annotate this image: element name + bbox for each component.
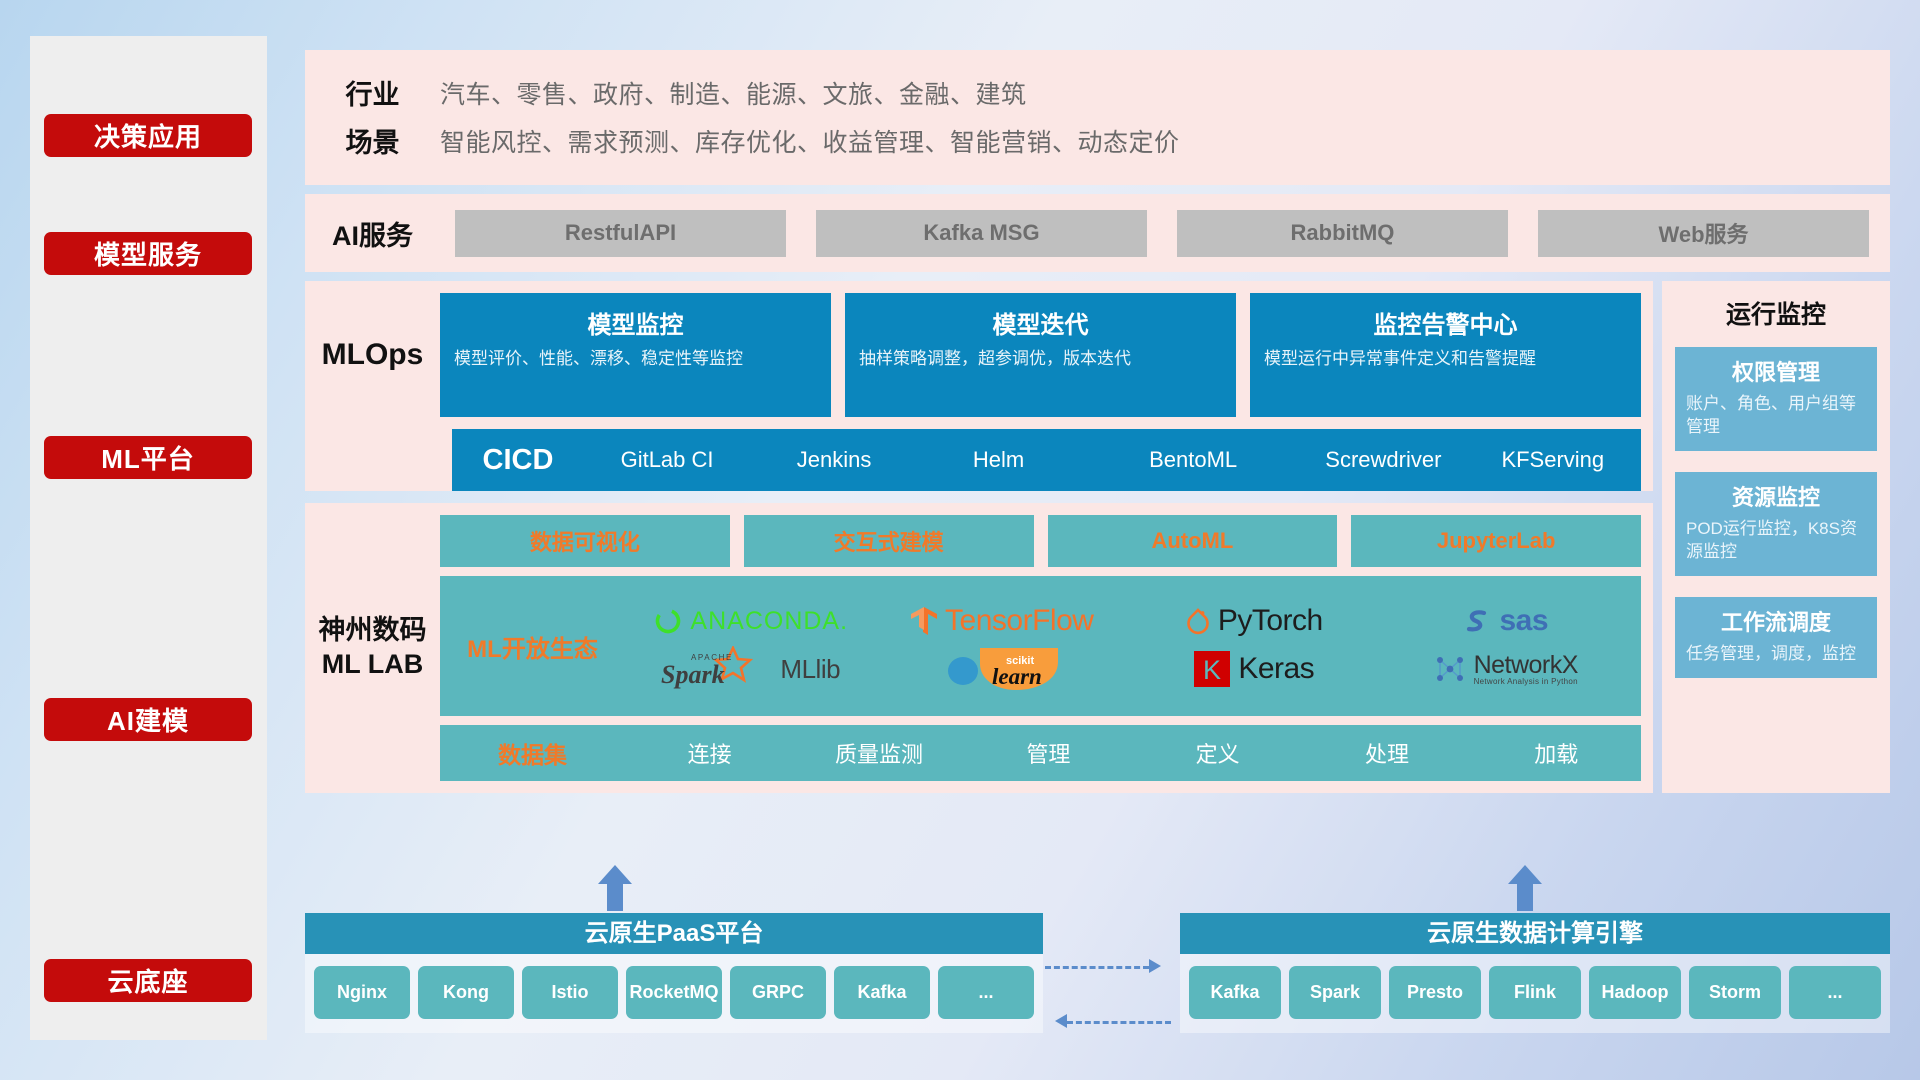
chip-label: GRPC bbox=[752, 982, 804, 1002]
spark-mllib-logo: APACHE Spark MLlib bbox=[661, 646, 840, 692]
mlops-card-alert-center[interactable]: 监控告警中心 模型运行中异常事件定义和告警提醒 bbox=[1250, 293, 1641, 417]
keras-wordmark: Keras bbox=[1238, 652, 1314, 686]
card-desc: 模型运行中异常事件定义和告警提醒 bbox=[1264, 348, 1627, 371]
mlops-label: MLOps bbox=[305, 338, 440, 372]
card-title: 资源监控 bbox=[1686, 480, 1866, 512]
chip-label: ... bbox=[1827, 982, 1842, 1002]
architecture-stack: 行业 汽车、零售、政府、制造、能源、文旅、金融、建筑 场景 智能风控、需求预测、… bbox=[305, 50, 1890, 793]
dataset-item-label: 加载 bbox=[1534, 742, 1578, 767]
networkx-logo: NetworkX Network Analysis in Python bbox=[1433, 652, 1578, 686]
dataset-item-quality-monitoring[interactable]: 质量监测 bbox=[794, 737, 963, 769]
rail-item-label: 模型服务 bbox=[94, 235, 202, 272]
cloud-chip-istio[interactable]: Istio bbox=[522, 966, 618, 1019]
rail-item-label: ML平台 bbox=[101, 439, 195, 476]
keras-mark: K bbox=[1193, 650, 1231, 688]
cloud-chip-hadoop[interactable]: Hadoop bbox=[1589, 966, 1681, 1019]
dataset-item-label: 质量监测 bbox=[835, 742, 923, 767]
cicd-title: CICD bbox=[452, 444, 584, 477]
mlops-and-mllab-column: MLOps 模型监控 模型评价、性能、漂移、稳定性等监控 模型迭代 抽样策略调整… bbox=[305, 281, 1653, 793]
dataset-item-label: 处理 bbox=[1365, 742, 1409, 767]
mlops-band: MLOps 模型监控 模型评价、性能、漂移、稳定性等监控 模型迭代 抽样策略调整… bbox=[305, 281, 1653, 429]
cicd-item-kfserving[interactable]: KFServing bbox=[1465, 445, 1641, 475]
anaconda-wordmark: ANACONDA. bbox=[690, 607, 848, 636]
svg-text:learn: learn bbox=[992, 664, 1042, 689]
chip-label: ... bbox=[978, 982, 993, 1002]
ai-service-chip-rabbitmq[interactable]: RabbitMQ bbox=[1177, 210, 1508, 257]
cloud-foundation-section: 云原生PaaS平台 Nginx Kong Istio RocketMQ GRPC… bbox=[305, 865, 1890, 1055]
scenario-values: 智能风控、需求预测、库存优化、收益管理、智能营销、动态定价 bbox=[440, 123, 1180, 159]
cloud-chip-kafka[interactable]: Kafka bbox=[834, 966, 930, 1019]
cicd-item-label: KFServing bbox=[1501, 445, 1604, 474]
tool-label: 交互式建模 bbox=[834, 525, 944, 557]
ml-lab-label-line2: ML LAB bbox=[305, 648, 440, 682]
cloud-chip-rocketmq[interactable]: RocketMQ bbox=[626, 966, 722, 1019]
card-desc: POD运行监控，K8S资源监控 bbox=[1686, 518, 1866, 564]
tensorflow-logo: TensorFlow bbox=[911, 604, 1093, 638]
chip-label: Nginx bbox=[337, 982, 387, 1002]
anaconda-mark bbox=[653, 606, 683, 636]
dataset-item-label: 管理 bbox=[1026, 742, 1070, 767]
dataset-item-connect[interactable]: 连接 bbox=[625, 737, 794, 769]
monitor-card-resource[interactable]: 资源监控 POD运行监控，K8S资源监控 bbox=[1675, 472, 1877, 576]
card-title: 工作流调度 bbox=[1686, 605, 1866, 637]
dashed-line-left bbox=[1067, 1021, 1171, 1024]
cloud-chip-flink[interactable]: Flink bbox=[1489, 966, 1581, 1019]
tool-chip-data-visualization[interactable]: 数据可视化 bbox=[440, 515, 730, 567]
chip-label: Kafka MSG bbox=[923, 220, 1039, 246]
svg-text:Spark: Spark bbox=[661, 660, 725, 689]
tool-chip-interactive-modeling[interactable]: 交互式建模 bbox=[744, 515, 1034, 567]
cloud-paas-title: 云原生PaaS平台 bbox=[305, 913, 1043, 954]
scikit-learn-logo: scikit learn bbox=[943, 646, 1062, 692]
chip-label: Hadoop bbox=[1602, 982, 1669, 1002]
rail-item-label: 云底座 bbox=[107, 962, 188, 999]
networkx-wordmark: NetworkX bbox=[1474, 653, 1578, 678]
dataset-item-management[interactable]: 管理 bbox=[964, 737, 1133, 769]
tool-chip-jupyterlab[interactable]: JupyterLab bbox=[1351, 515, 1641, 567]
chip-label: Kafka bbox=[857, 982, 906, 1002]
dataset-label: 数据集 bbox=[440, 736, 625, 770]
chip-label: RestfulAPI bbox=[565, 220, 676, 246]
cicd-item-jenkins[interactable]: Jenkins bbox=[760, 445, 936, 475]
industry-scenario-band: 行业 汽车、零售、政府、制造、能源、文旅、金融、建筑 场景 智能风控、需求预测、… bbox=[305, 50, 1890, 185]
card-desc: 任务管理，调度，监控 bbox=[1686, 643, 1866, 666]
cicd-item-label: Screwdriver bbox=[1325, 445, 1428, 474]
cicd-item-bentoml[interactable]: BentoML bbox=[1113, 445, 1289, 475]
chip-label: Kong bbox=[443, 982, 489, 1002]
pytorch-logo: PyTorch bbox=[1185, 604, 1323, 638]
tensorflow-mark bbox=[911, 605, 938, 637]
cloud-data-engine-title: 云原生数据计算引擎 bbox=[1180, 913, 1890, 954]
svg-text:K: K bbox=[1203, 655, 1221, 685]
industry-row: 行业 汽车、零售、政府、制造、能源、文旅、金融、建筑 bbox=[305, 69, 1890, 117]
pytorch-wordmark: PyTorch bbox=[1218, 604, 1323, 638]
cicd-item-list: GitLab CI Jenkins Helm BentoML Screwdriv… bbox=[584, 445, 1641, 475]
card-title: 监控告警中心 bbox=[1264, 305, 1627, 340]
sas-mark bbox=[1462, 606, 1492, 636]
arrow-up-icon-paas bbox=[598, 865, 632, 911]
chip-label: Web服务 bbox=[1658, 217, 1748, 249]
cicd-item-screwdriver[interactable]: Screwdriver bbox=[1289, 445, 1465, 475]
cicd-item-label: GitLab CI bbox=[621, 445, 724, 474]
card-title: 权限管理 bbox=[1686, 355, 1866, 387]
anaconda-logo: ANACONDA. bbox=[653, 606, 848, 636]
cloud-chip-presto[interactable]: Presto bbox=[1389, 966, 1481, 1019]
ml-lab-label-line1: 神州数码 bbox=[305, 614, 440, 648]
ai-service-label: AI服务 bbox=[305, 214, 440, 253]
card-title: 模型迭代 bbox=[859, 305, 1222, 340]
cicd-strip: CICD GitLab CI Jenkins Helm BentoML Scre… bbox=[452, 429, 1641, 491]
cloud-chip-kong[interactable]: Kong bbox=[418, 966, 514, 1019]
chip-label: Flink bbox=[1514, 982, 1556, 1002]
ml-open-ecosystem-label: ML开放生态 bbox=[440, 629, 625, 664]
keras-logo: K Keras bbox=[1193, 650, 1314, 688]
pytorch-mark bbox=[1185, 606, 1211, 636]
mlops-card-list: 模型监控 模型评价、性能、漂移、稳定性等监控 模型迭代 抽样策略调整，超参调优，… bbox=[440, 293, 1641, 417]
cloud-chip-grpc[interactable]: GRPC bbox=[730, 966, 826, 1019]
mllib-wordmark: MLlib bbox=[780, 654, 840, 685]
chip-label: Istio bbox=[551, 982, 588, 1002]
dataset-item-label: 定义 bbox=[1196, 742, 1240, 767]
mlops-card-model-monitoring[interactable]: 模型监控 模型评价、性能、漂移、稳定性等监控 bbox=[440, 293, 831, 417]
cloud-chip-spark[interactable]: Spark bbox=[1289, 966, 1381, 1019]
tool-label: 数据可视化 bbox=[530, 525, 640, 557]
card-title: 模型监控 bbox=[454, 305, 817, 340]
networkx-mark bbox=[1433, 652, 1467, 686]
rail-item-label: AI建模 bbox=[107, 701, 189, 738]
dataset-row: 数据集 连接 质量监测 管理 定义 处理 bbox=[440, 725, 1641, 781]
rail-item-ml-platform[interactable]: ML平台 bbox=[44, 436, 252, 479]
cloud-paas-item-list: Nginx Kong Istio RocketMQ GRPC Kafka ... bbox=[305, 954, 1043, 1033]
mlops-card-model-iteration[interactable]: 模型迭代 抽样策略调整，超参调优，版本迭代 bbox=[845, 293, 1236, 417]
ai-service-chip-kafka-msg[interactable]: Kafka MSG bbox=[816, 210, 1147, 257]
industry-label: 行业 bbox=[305, 73, 440, 112]
scenario-label: 场景 bbox=[305, 121, 440, 160]
ml-open-ecosystem-row: ML开放生态 ANACONDA. bbox=[440, 576, 1641, 716]
cloud-paas-panel: 云原生PaaS平台 Nginx Kong Istio RocketMQ GRPC… bbox=[305, 913, 1043, 1033]
cicd-item-gitlab-ci[interactable]: GitLab CI bbox=[584, 445, 760, 475]
chip-label: Spark bbox=[1310, 982, 1360, 1002]
dataset-item-loading[interactable]: 加载 bbox=[1472, 737, 1641, 769]
scikit-orange-blob: scikit learn bbox=[976, 646, 1062, 692]
networkx-tagline: Network Analysis in Python bbox=[1474, 678, 1578, 686]
tensorflow-wordmark: TensorFlow bbox=[945, 604, 1093, 638]
rail-item-decision-app[interactable]: 决策应用 bbox=[44, 114, 252, 157]
dataset-item-processing[interactable]: 处理 bbox=[1302, 737, 1471, 769]
tool-label: AutoML bbox=[1151, 528, 1233, 554]
bidirectional-connector bbox=[1045, 965, 1179, 1037]
monitor-card-workflow[interactable]: 工作流调度 任务管理，调度，监控 bbox=[1675, 597, 1877, 678]
runtime-monitoring-title: 运行监控 bbox=[1675, 295, 1877, 331]
card-desc: 抽样策略调整，超参调优，版本迭代 bbox=[859, 348, 1222, 371]
cicd-item-label: Helm bbox=[973, 445, 1076, 474]
runtime-monitoring-panel: 运行监控 权限管理 账户、角色、用户组等管理 资源监控 POD运行监控，K8S资… bbox=[1662, 281, 1890, 793]
monitor-card-permission[interactable]: 权限管理 账户、角色、用户组等管理 bbox=[1675, 347, 1877, 451]
cloud-data-engine-item-list: Kafka Spark Presto Flink Hadoop Storm ..… bbox=[1180, 954, 1890, 1033]
cicd-item-label: Jenkins bbox=[797, 445, 900, 474]
rail-item-label: 决策应用 bbox=[94, 117, 202, 154]
sas-logo: sas bbox=[1462, 604, 1548, 638]
layer-rail: 决策应用 模型服务 ML平台 AI建模 云底座 bbox=[30, 36, 267, 1040]
rail-item-model-service[interactable]: 模型服务 bbox=[44, 232, 252, 275]
cicd-item-label: BentoML bbox=[1149, 445, 1252, 474]
dashed-line-right bbox=[1045, 966, 1149, 969]
cloud-chip-kafka-data[interactable]: Kafka bbox=[1189, 966, 1281, 1019]
cloud-chip-more-data[interactable]: ... bbox=[1789, 966, 1881, 1019]
sas-wordmark: sas bbox=[1499, 604, 1548, 638]
arrow-up-icon-data-engine bbox=[1508, 865, 1542, 911]
cloud-chip-more[interactable]: ... bbox=[938, 966, 1034, 1019]
ml-lab-band: 神州数码 ML LAB 数据可视化 交互式建模 AutoML JupyterLa… bbox=[305, 503, 1653, 793]
ml-lab-content: 数据可视化 交互式建模 AutoML JupyterLab ML开放生态 bbox=[440, 515, 1641, 781]
dataset-item-label: 连接 bbox=[688, 742, 732, 767]
platform-middle-section: MLOps 模型监控 模型评价、性能、漂移、稳定性等监控 模型迭代 抽样策略调整… bbox=[305, 281, 1890, 793]
dataset-item-list: 连接 质量监测 管理 定义 处理 加载 bbox=[625, 737, 1641, 769]
rail-item-cloud-base[interactable]: 云底座 bbox=[44, 959, 252, 1002]
tool-chip-automl[interactable]: AutoML bbox=[1048, 515, 1338, 567]
cloud-chip-storm[interactable]: Storm bbox=[1689, 966, 1781, 1019]
tool-label: JupyterLab bbox=[1437, 528, 1556, 554]
ml-lab-tool-list: 数据可视化 交互式建模 AutoML JupyterLab bbox=[440, 515, 1641, 567]
chip-label: Kafka bbox=[1210, 982, 1259, 1002]
card-desc: 模型评价、性能、漂移、稳定性等监控 bbox=[454, 348, 817, 371]
card-desc: 账户、角色、用户组等管理 bbox=[1686, 393, 1866, 439]
chip-label: Storm bbox=[1709, 982, 1761, 1002]
cloud-data-engine-panel: 云原生数据计算引擎 Kafka Spark Presto Flink Hadoo… bbox=[1180, 913, 1890, 1033]
arrow-right-icon bbox=[1149, 959, 1161, 973]
dataset-item-definition[interactable]: 定义 bbox=[1133, 737, 1302, 769]
arrow-left-icon bbox=[1055, 1014, 1067, 1028]
ai-service-band: AI服务 RestfulAPI Kafka MSG RabbitMQ Web服务 bbox=[305, 194, 1890, 272]
ai-service-chip-list: RestfulAPI Kafka MSG RabbitMQ Web服务 bbox=[440, 210, 1890, 257]
chip-label: Presto bbox=[1407, 982, 1463, 1002]
chip-label: RabbitMQ bbox=[1291, 220, 1395, 246]
scenario-row: 场景 智能风控、需求预测、库存优化、收益管理、智能营销、动态定价 bbox=[305, 117, 1890, 165]
chip-label: RocketMQ bbox=[629, 982, 718, 1002]
cicd-item-helm[interactable]: Helm bbox=[936, 445, 1112, 475]
cloud-chip-nginx[interactable]: Nginx bbox=[314, 966, 410, 1019]
industry-values: 汽车、零售、政府、制造、能源、文旅、金融、建筑 bbox=[440, 75, 1027, 111]
ai-service-chip-web-service[interactable]: Web服务 bbox=[1538, 210, 1869, 257]
spark-mark: APACHE Spark bbox=[661, 646, 773, 692]
ecosystem-logo-grid: ANACONDA. TensorFlow bbox=[625, 594, 1641, 698]
ai-service-chip-restfulapi[interactable]: RestfulAPI bbox=[455, 210, 786, 257]
rail-item-ai-modeling[interactable]: AI建模 bbox=[44, 698, 252, 741]
ml-lab-label: 神州数码 ML LAB bbox=[305, 614, 440, 682]
